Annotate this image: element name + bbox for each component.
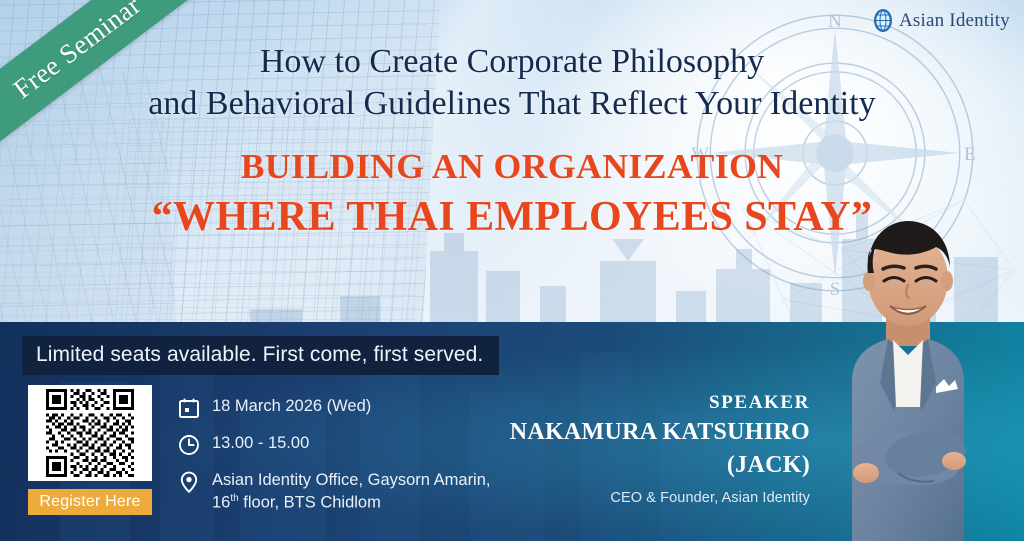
qr-code[interactable]: [28, 385, 152, 481]
event-location-line2: floor, BTS Chidlom: [239, 493, 381, 511]
register-button-label: Register Here: [39, 493, 140, 511]
page-title-line2: and Behavioral Guidelines That Reflect Y…: [0, 82, 1024, 126]
clock-icon: [178, 434, 200, 456]
location-pin-icon: [178, 471, 200, 493]
event-date: 18 March 2026 (Wed): [212, 396, 371, 418]
speaker-name-line2: (JACK): [480, 451, 810, 480]
globe-icon: [873, 8, 893, 33]
headline-line1: BUILDING AN ORGANIZATION: [0, 147, 1024, 187]
speaker-role: CEO & Founder, Asian Identity: [480, 490, 810, 506]
calendar-icon: [178, 397, 200, 419]
speaker-portrait: [794, 211, 1024, 541]
brand-logo-text: Asian Identity: [899, 10, 1010, 32]
speaker-block: SPEAKER NAKAMURA KATSUHIRO (JACK) CEO & …: [480, 392, 810, 506]
limited-seats-text: Limited seats available. First come, fir…: [36, 343, 483, 366]
event-location-line1: Asian Identity Office, Gaysorn Amarin,: [212, 471, 491, 489]
brand-logo[interactable]: Asian Identity: [873, 8, 1010, 33]
event-time: 13.00 - 15.00: [212, 433, 309, 455]
event-location-floor-suffix: th: [230, 493, 238, 504]
speaker-name-line1: NAKAMURA KATSUHIRO: [480, 418, 810, 447]
registration-block: Register Here: [28, 385, 158, 515]
limited-seats-notice: Limited seats available. First come, fir…: [22, 336, 499, 375]
svg-text:N: N: [828, 11, 842, 32]
seminar-banner: NE SW: [0, 0, 1024, 541]
event-location: Asian Identity Office, Gaysorn Amarin, 1…: [212, 470, 491, 514]
speaker-label: SPEAKER: [480, 392, 810, 414]
register-here-button[interactable]: Register Here: [28, 489, 152, 515]
event-location-floor: 16: [212, 493, 230, 511]
page-title-line1: How to Create Corporate Philosophy: [0, 40, 1024, 84]
